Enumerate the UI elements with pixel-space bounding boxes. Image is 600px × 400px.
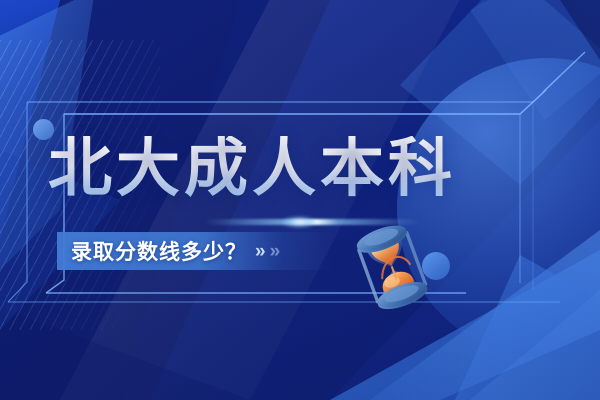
promo-banner: 北大成人本科 录取分数线多少？ » » xyxy=(0,0,600,400)
chevron-2: » xyxy=(270,242,281,261)
subtitle-text: 录取分数线多少？ xyxy=(71,236,247,266)
subtitle-bar: 录取分数线多少？ » » xyxy=(57,232,332,270)
banner-title: 北大成人本科 xyxy=(48,136,456,200)
chevron-double-right-icon: » » xyxy=(255,242,280,261)
light-flare-core xyxy=(282,216,316,228)
chevron-1: » xyxy=(255,242,266,261)
